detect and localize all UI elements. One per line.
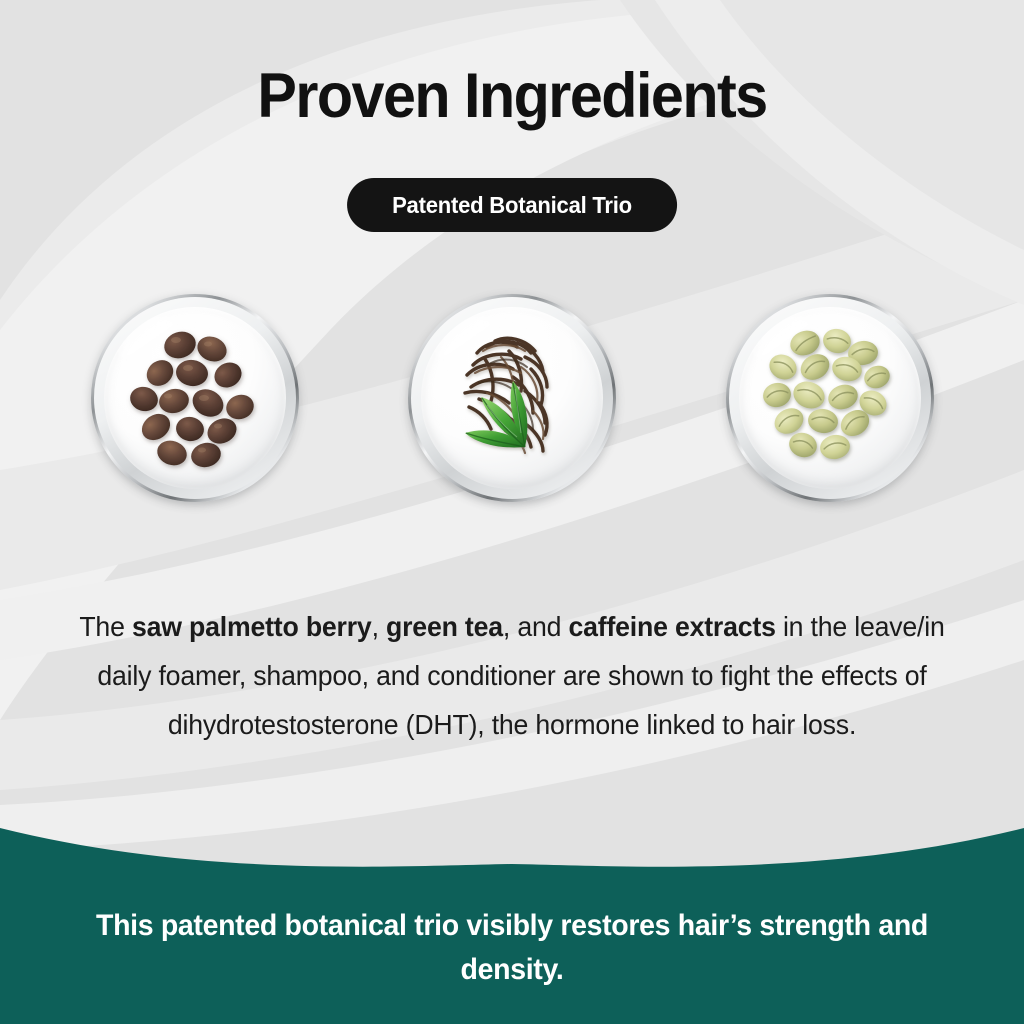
ingredient-highlight: saw palmetto berry bbox=[132, 611, 372, 642]
ingredient-highlight: caffeine extracts bbox=[568, 611, 775, 642]
ingredient-highlight: green tea bbox=[386, 611, 503, 642]
ingredient-dish-caffeine bbox=[726, 294, 934, 502]
patented-badge-label: Patented Botanical Trio bbox=[392, 192, 632, 219]
ingredient-dish-green-tea bbox=[408, 294, 616, 502]
patented-badge: Patented Botanical Trio bbox=[347, 178, 677, 232]
dish-interior bbox=[739, 307, 921, 489]
ingredient-dish-row bbox=[0, 294, 1024, 506]
ingredient-description: The saw palmetto berry, green tea, and c… bbox=[66, 602, 958, 749]
saw-palmetto-berries-icon bbox=[104, 307, 286, 489]
claim-banner: This patented botanical trio visibly res… bbox=[0, 820, 1024, 1024]
dish-interior bbox=[104, 307, 286, 489]
ingredient-infographic: Proven Ingredients Patented Botanical Tr… bbox=[0, 0, 1024, 1024]
green-tea-leaves-icon bbox=[421, 307, 603, 489]
description-text: , bbox=[372, 611, 386, 642]
ingredient-dish-saw-palmetto bbox=[91, 294, 299, 502]
dish-interior bbox=[421, 307, 603, 489]
page-title: Proven Ingredients bbox=[31, 62, 994, 130]
claim-banner-text: This patented botanical trio visibly res… bbox=[83, 904, 942, 992]
description-text: The bbox=[79, 611, 132, 642]
description-text: , and bbox=[503, 611, 569, 642]
green-coffee-beans-icon bbox=[739, 307, 921, 489]
